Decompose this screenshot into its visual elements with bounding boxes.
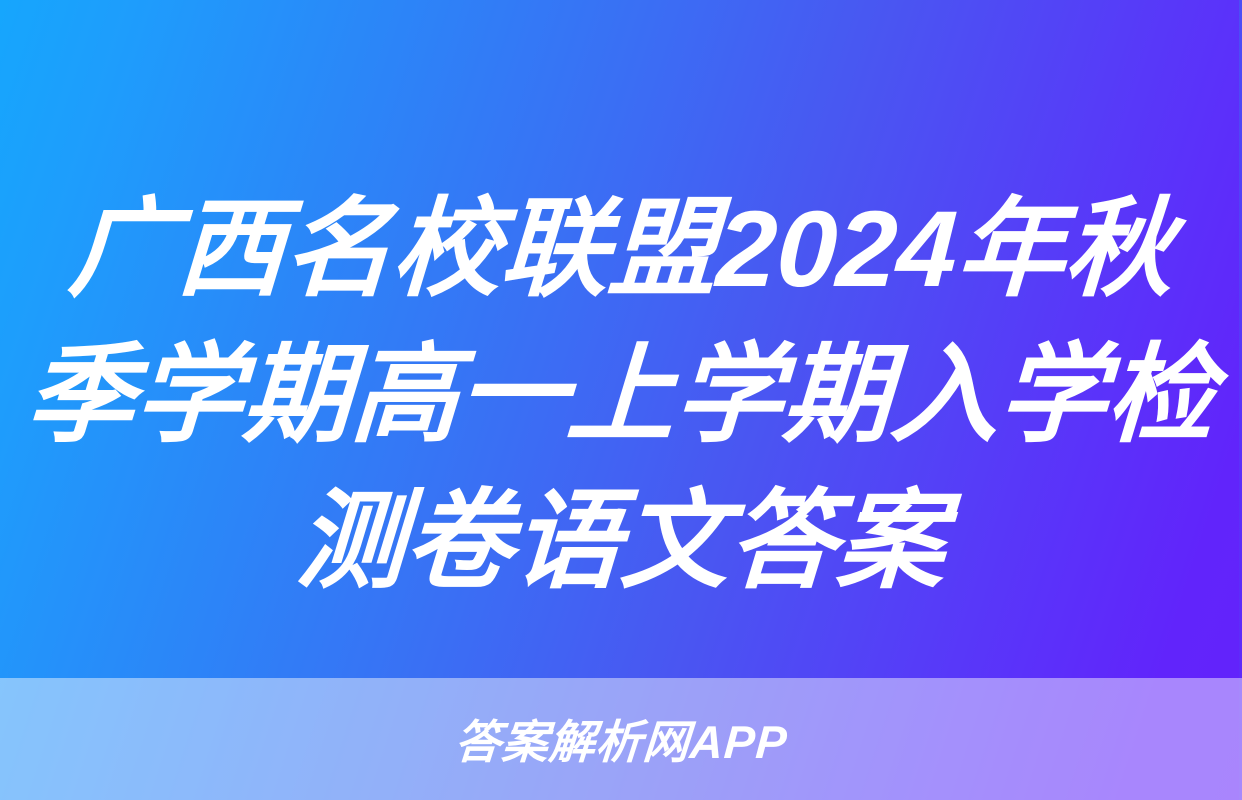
banner-card: 广西名校联盟2024年秋 季学期高一上学期入学检 测卷语文答案 答案解析网APP [0,0,1242,800]
page-title: 广西名校联盟2024年秋 季学期高一上学期入学检 测卷语文答案 [0,176,1242,614]
title-line-2: 季学期高一上学期入学检 [20,322,1222,468]
title-line-1: 广西名校联盟2024年秋 [20,176,1222,322]
watermark-label: 答案解析网APP [453,719,789,765]
watermark-band: 答案解析网APP [0,678,1242,800]
title-line-3: 测卷语文答案 [20,468,1222,614]
